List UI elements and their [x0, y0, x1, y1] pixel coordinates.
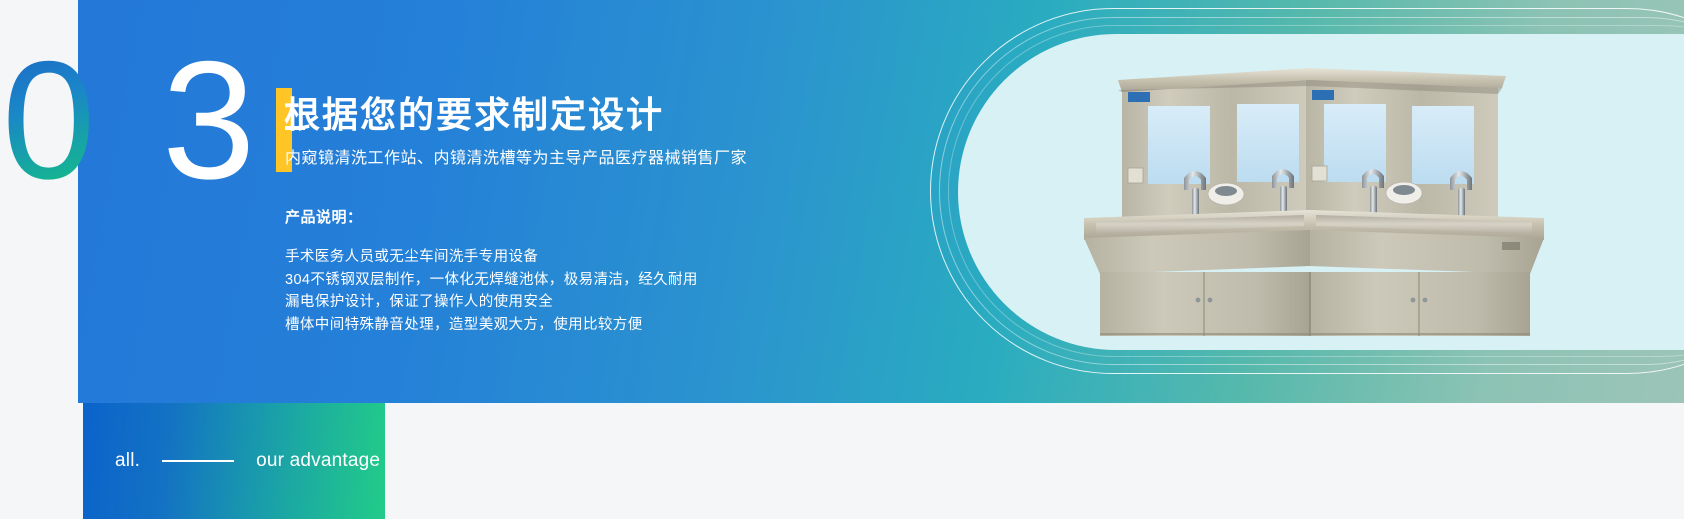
page-title: 根据您的要求制定设计 — [284, 86, 664, 138]
headline-dash — [285, 126, 305, 130]
slide-number-suffix: 3 — [162, 36, 255, 204]
advantage-right-label: our advantage — [256, 450, 380, 472]
slide-number-prefix: 0 — [2, 36, 95, 204]
list-item: 槽体中间特殊静音处理，造型美观大方，使用比较方便 — [285, 314, 698, 337]
description-list: 手术医务人员或无尘车间洗手专用设备 304不锈钢双层制作，一体化无焊缝池体，极易… — [285, 246, 698, 336]
list-item: 漏电保护设计，保证了操作人的使用安全 — [285, 291, 698, 314]
subtitle: 内窥镜清洗工作站、内镜清洗槽等为主导产品医疗器械销售厂家 — [285, 144, 747, 168]
gradient-panel: 3 根据您的要求制定设计 内窥镜清洗工作站、内镜清洗槽等为主导产品医疗器械销售厂… — [78, 0, 1684, 403]
advantage-bar: all. our advantage — [83, 403, 385, 519]
list-item: 手术医务人员或无尘车间洗手专用设备 — [285, 246, 698, 269]
description-title: 产品说明： — [285, 206, 363, 227]
slide-banner: 3 根据您的要求制定设计 内窥镜清洗工作站、内镜清洗槽等为主导产品医疗器械销售厂… — [0, 0, 1684, 519]
advantage-divider — [162, 460, 234, 462]
advantage-left-label: all. — [115, 450, 140, 472]
list-item: 304不锈钢双层制作，一体化无焊缝池体，极易清洁，经久耐用 — [285, 269, 698, 292]
product-photo — [1074, 60, 1560, 340]
